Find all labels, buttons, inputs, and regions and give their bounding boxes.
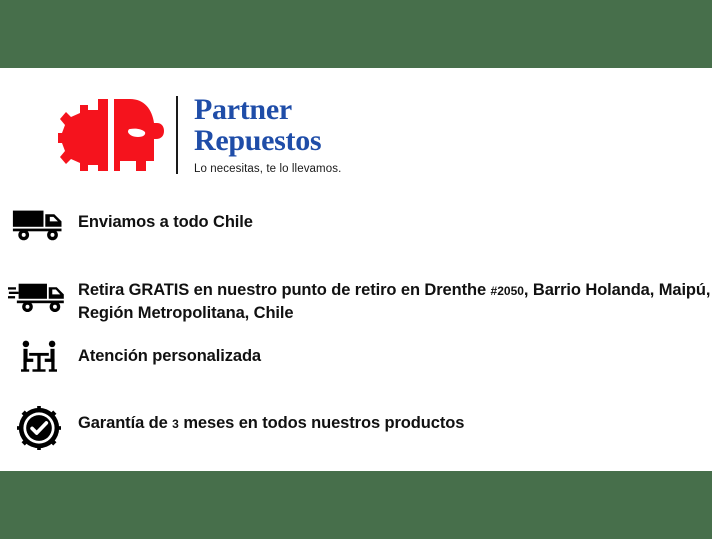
gear-car-logo-icon [58,95,164,175]
bottom-letterbox-band [0,471,712,539]
feature-row-shipping: Enviamos a todo Chile [0,205,719,257]
feature-text-main: Garantía de [78,414,172,432]
brand-wordmark: Partner Repuestos Lo necesitas, te lo ll… [194,94,341,175]
delivery-truck-icon [0,205,78,243]
feature-text-shipping: Enviamos a todo Chile [78,205,253,234]
moving-truck-icon [0,273,78,315]
feature-row-attention: Atención personalizada [0,339,719,391]
feature-text-pickup: Retira GRATIS en nuestro punto de retiro… [78,273,719,324]
brand-logo-block: Partner Repuestos Lo necesitas, te lo ll… [58,94,341,175]
brand-name-line-1: Partner [194,94,341,125]
feature-row-pickup: Retira GRATIS en nuestro punto de retiro… [0,273,719,325]
content-stage: Partner Repuestos Lo necesitas, te lo ll… [0,68,719,471]
feature-list: Enviamos a todo Chile [0,205,719,468]
feature-text-warranty: Garantía de 3 meses en todos nuestros pr… [78,406,464,435]
logo-divider [176,96,178,174]
feature-text-main: Retira GRATIS en nuestro punto de retiro… [78,281,491,299]
feature-text-small: #2050 [491,284,524,298]
brand-tagline: Lo necesitas, te lo llevamos. [194,163,341,175]
feature-text-main: Enviamos a todo Chile [78,213,253,231]
feature-text-main: Atención personalizada [78,347,261,365]
people-at-table-icon [0,339,78,375]
brand-name-line-2: Repuestos [194,125,341,156]
feature-row-warranty: Garantía de 3 meses en todos nuestros pr… [0,406,719,458]
feature-text-tail: meses en todos nuestros productos [179,414,464,432]
feature-text-attention: Atención personalizada [78,339,261,368]
feature-text-small: 3 [172,417,179,431]
top-letterbox-band [0,0,712,68]
guarantee-badge-icon [0,406,78,450]
